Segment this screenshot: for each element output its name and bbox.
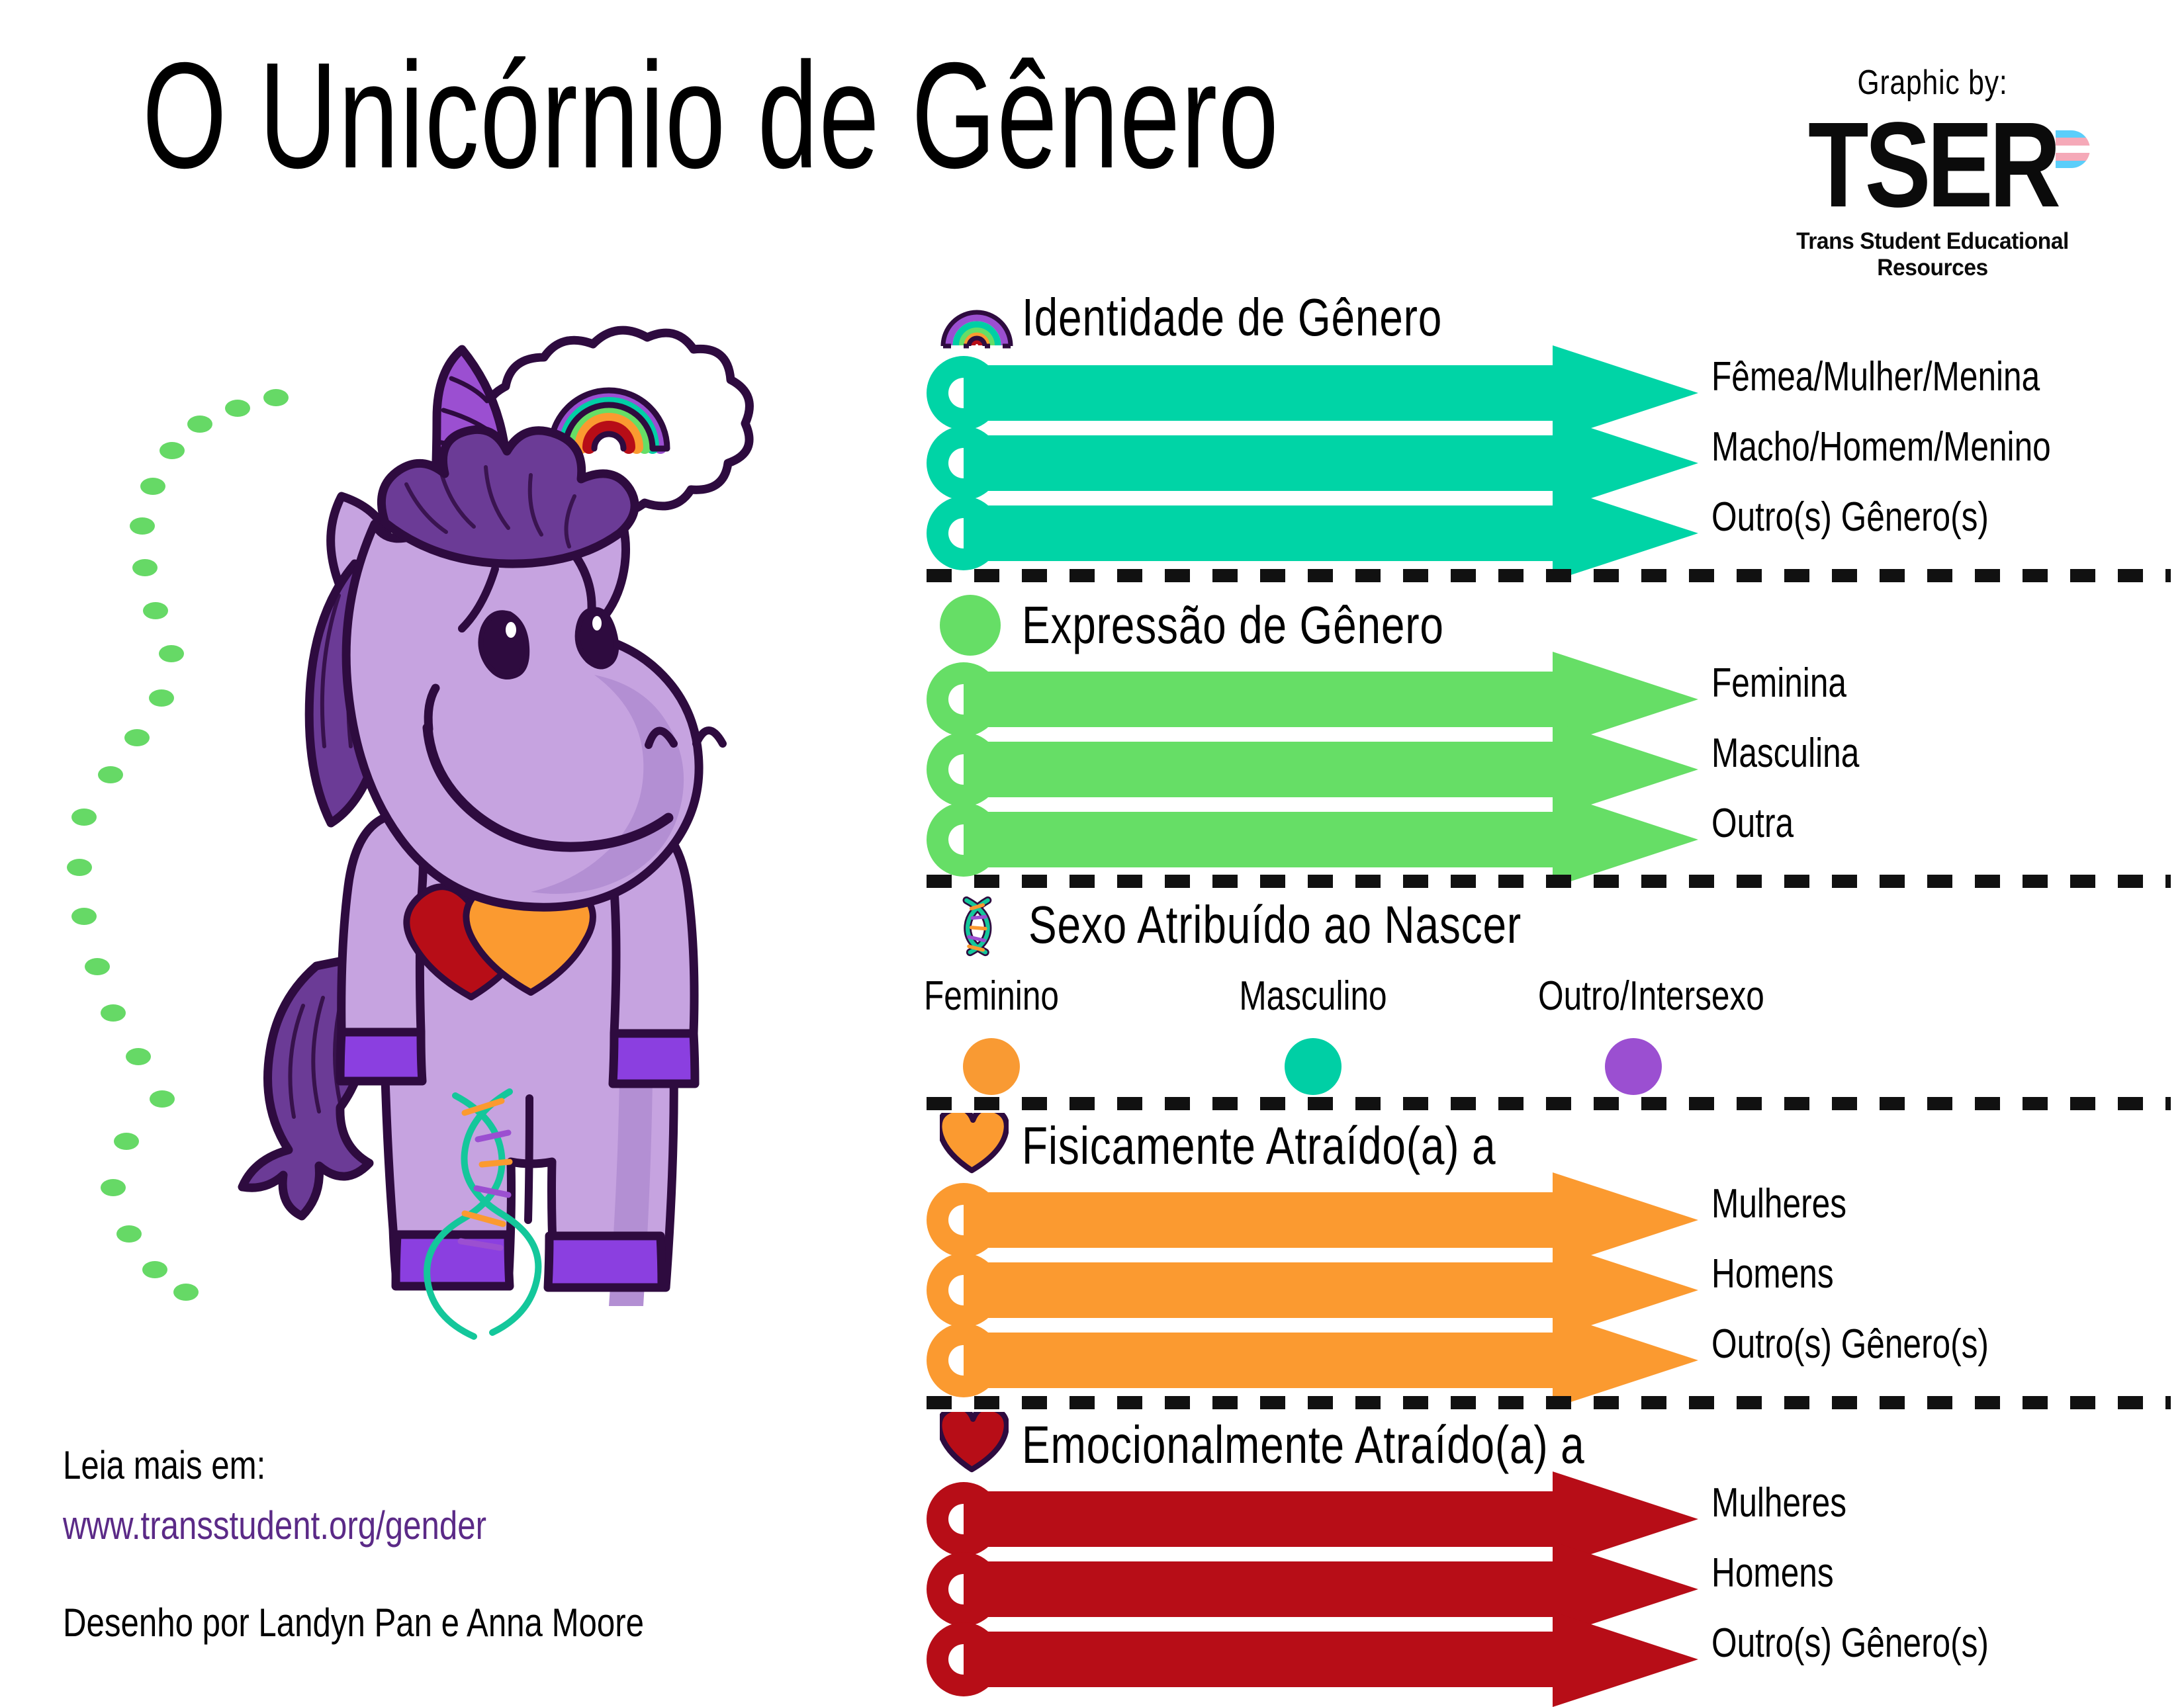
arrow-row: Outro(s) Gênero(s): [927, 505, 2091, 561]
decorative-dot: [101, 1004, 126, 1022]
green-circle-icon: [940, 592, 1014, 658]
tser-wordmark: TSER: [1808, 104, 2057, 203]
arrow-label: Mulheres: [1711, 1479, 1846, 1526]
sex-option-label: Outro/Intersexo: [1538, 973, 1729, 1020]
section-divider: [927, 569, 2171, 582]
credit-label: Desenho por Landyn Pan e Anna Moore: [63, 1600, 660, 1645]
arrow-label: Homens: [1711, 1250, 1834, 1297]
arrow-row: Feminina: [927, 672, 2091, 727]
arrow-shaft: [964, 812, 1553, 867]
transstudent-link[interactable]: www.transstudent.org/gender: [63, 1503, 660, 1548]
page-title-text: O Unicórnio de Gênero: [142, 36, 1238, 195]
arrow-shaft: [964, 1192, 1553, 1248]
section-header-emocional: Emocionalmente Atraído(a) a: [940, 1412, 1725, 1478]
arrow-row: Masculina: [927, 742, 2091, 797]
arrow-head: [1553, 1612, 1698, 1707]
read-more-label: Leia mais em:: [63, 1442, 660, 1488]
section-header-fisico: Fisicamente Atraído(a) a: [940, 1113, 1614, 1179]
gender-spectrum-panel: Identidade de Gênero Fêmea/Mulher/Menina…: [927, 284, 2171, 1647]
arrow-row: Homens: [927, 1561, 2091, 1617]
decorative-dot: [71, 809, 97, 826]
decorative-dot: [130, 517, 155, 535]
arrow-shaft: [964, 435, 1553, 491]
section-title-identidade: Identidade de Gênero: [1022, 287, 1442, 348]
arrow-shaft: [964, 1491, 1553, 1547]
sex-option-dot: [963, 1038, 1020, 1095]
arrow-row: Mulheres: [927, 1192, 2091, 1248]
arrow-row: Mulheres: [927, 1491, 2091, 1547]
red-heart-icon: [940, 1412, 1014, 1478]
decorative-dot: [159, 645, 184, 662]
arrow-label: Outra: [1711, 800, 1794, 847]
decorative-dot: [116, 1225, 142, 1243]
footer: Leia mais em: www.transstudent.org/gende…: [63, 1442, 791, 1660]
decorative-dot: [98, 766, 123, 783]
arrow-label: Feminina: [1711, 660, 1846, 707]
arrow-label: Macho/Homem/Menino: [1711, 423, 2051, 470]
decorative-dot: [150, 1090, 175, 1108]
decorative-dot: [187, 416, 212, 433]
sex-option-label: Feminino: [896, 973, 1087, 1020]
arrow-shaft: [964, 1333, 1553, 1388]
trans-flag-icon: [2056, 130, 2090, 168]
decorative-dot: [132, 559, 158, 576]
arrow-head: [1553, 486, 1698, 581]
section-title-fisico: Fisicamente Atraído(a) a: [1022, 1116, 1496, 1176]
section-divider: [927, 1396, 2171, 1409]
arrow-shaft: [964, 1262, 1553, 1318]
section-header-expressao: Expressão de Gênero: [940, 592, 1549, 658]
arrow-row: Outra: [927, 812, 2091, 867]
arrow-label: Mulheres: [1711, 1180, 1846, 1227]
section-header-sexo: Sexo Atribuído ao Nascer: [946, 892, 1645, 958]
arrow-label: Outro(s) Gênero(s): [1711, 494, 1989, 541]
arrow-label: Outro(s) Gênero(s): [1711, 1321, 1989, 1368]
sex-option-feminino: Feminino: [872, 973, 1111, 1095]
sex-option-dot: [1605, 1038, 1662, 1095]
section-divider: [927, 875, 2171, 888]
arrow-row: Outro(s) Gênero(s): [927, 1632, 2091, 1687]
dna-icon: [946, 892, 1021, 958]
arrow-label: Masculina: [1711, 730, 1859, 777]
sex-option-label: Masculino: [1218, 973, 1408, 1020]
decorative-dot: [149, 689, 174, 707]
arrow-row: Macho/Homem/Menino: [927, 435, 2091, 491]
arrow-shaft: [964, 1561, 1553, 1617]
section-title-expressao: Expressão de Gênero: [1022, 595, 1444, 656]
decorative-dot: [67, 859, 92, 876]
unicorn-illustration: [218, 304, 880, 1363]
decorative-dot: [101, 1179, 126, 1196]
sex-option-dot: [1285, 1038, 1342, 1095]
decorative-dot: [142, 1261, 167, 1278]
sex-option-masculino: Masculino: [1194, 973, 1432, 1095]
orange-heart-icon: [940, 1113, 1014, 1179]
decorative-dot: [85, 958, 110, 975]
rainbow-icon: [940, 284, 1014, 351]
arrow-shaft: [964, 1632, 1553, 1687]
sex-option-outro-intersexo: Outro/Intersexo: [1514, 973, 1752, 1095]
arrow-label: Outro(s) Gênero(s): [1711, 1620, 1989, 1667]
decorative-dot: [126, 1048, 151, 1065]
section-header-identidade: Identidade de Gênero: [940, 284, 1547, 351]
arrow-label: Homens: [1711, 1550, 1834, 1597]
section-title-emocional: Emocionalmente Atraído(a) a: [1022, 1415, 1584, 1475]
arrow-shaft: [964, 672, 1553, 727]
decorative-dot: [71, 908, 97, 925]
arrow-head: [1553, 1313, 1698, 1408]
tser-subtitle: Trans Student Educational Resources: [1754, 228, 2111, 281]
decorative-dot: [140, 478, 165, 495]
section-title-sexo: Sexo Atribuído ao Nascer: [1028, 895, 1522, 955]
section-divider: [927, 1097, 2171, 1110]
arrow-shaft: [964, 742, 1553, 797]
arrow-shaft: [964, 505, 1553, 561]
decorative-dot: [114, 1133, 139, 1150]
arrow-label: Fêmea/Mulher/Menina: [1711, 353, 2040, 400]
arrow-shaft: [964, 365, 1553, 421]
arrow-row: Homens: [927, 1262, 2091, 1318]
decorative-dot: [159, 442, 185, 459]
page-title: O Unicórnio de Gênero: [142, 36, 1664, 202]
decorative-dot: [124, 729, 150, 746]
decorative-dot: [143, 602, 168, 619]
tser-logo: Graphic by: TSER Trans Student Education…: [1747, 63, 2118, 261]
arrow-row: Fêmea/Mulher/Menina: [927, 365, 2091, 421]
arrow-row: Outro(s) Gênero(s): [927, 1333, 2091, 1388]
decorative-dot: [173, 1284, 199, 1301]
arrow-head: [1553, 792, 1698, 887]
tser-letters: TSER: [1808, 104, 2057, 225]
